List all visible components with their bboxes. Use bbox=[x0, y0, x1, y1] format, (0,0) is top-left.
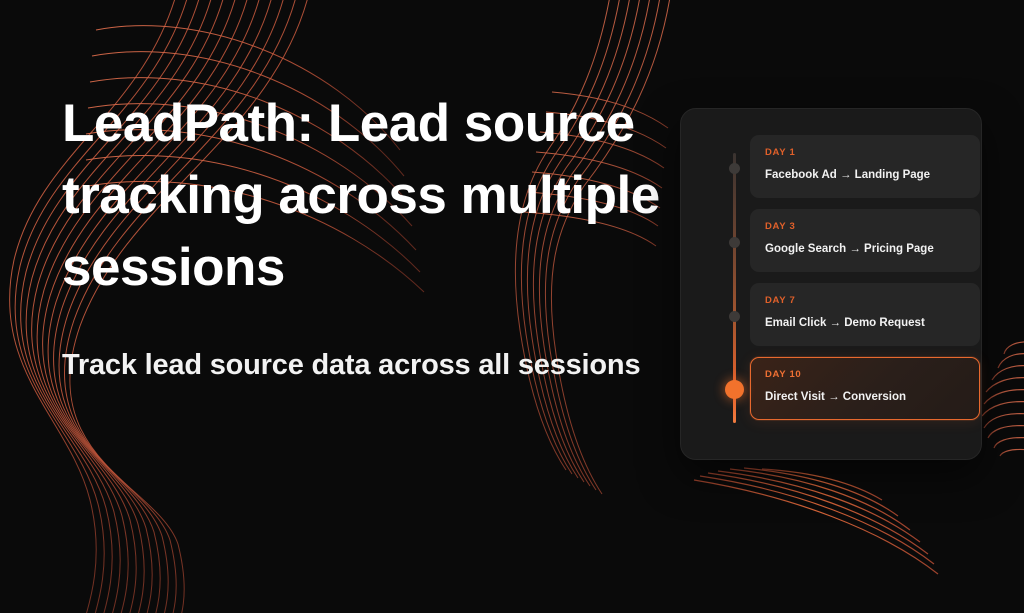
timeline-step-list: DAY 1 Facebook Ad → Landing Page DAY 3 G… bbox=[705, 135, 959, 420]
day-label: DAY 7 bbox=[765, 295, 965, 307]
page-title: LeadPath: Lead source tracking across mu… bbox=[62, 88, 672, 304]
promo-graphic: LeadPath: Lead source tracking across mu… bbox=[0, 0, 1024, 613]
timeline-card-text: Facebook Ad → Landing Page bbox=[765, 168, 965, 183]
page-subtitle: Track lead source data across all sessio… bbox=[62, 342, 672, 389]
day-label: DAY 1 bbox=[765, 147, 965, 159]
timeline-card-active[interactable]: DAY 10 Direct Visit → Conversion bbox=[750, 357, 980, 420]
timeline-card[interactable]: DAY 7 Email Click → Demo Request bbox=[750, 283, 980, 346]
day-label: DAY 3 bbox=[765, 221, 965, 233]
timeline-card-text: Email Click → Demo Request bbox=[765, 316, 965, 331]
lead-journey-timeline: DAY 1 Facebook Ad → Landing Page DAY 3 G… bbox=[705, 135, 959, 435]
timeline-dot-icon bbox=[729, 237, 740, 248]
timeline-step-active[interactable]: DAY 10 Direct Visit → Conversion bbox=[705, 357, 959, 420]
hero-text-block: LeadPath: Lead source tracking across mu… bbox=[62, 88, 672, 389]
timeline-step[interactable]: DAY 1 Facebook Ad → Landing Page bbox=[705, 135, 959, 198]
timeline-dot-icon bbox=[729, 163, 740, 174]
timeline-step[interactable]: DAY 7 Email Click → Demo Request bbox=[705, 283, 959, 346]
timeline-step[interactable]: DAY 3 Google Search → Pricing Page bbox=[705, 209, 959, 272]
timeline-card[interactable]: DAY 1 Facebook Ad → Landing Page bbox=[750, 135, 980, 198]
timeline-card-text: Direct Visit → Conversion bbox=[765, 390, 965, 405]
day-label: DAY 10 bbox=[765, 369, 965, 381]
timeline-panel: DAY 1 Facebook Ad → Landing Page DAY 3 G… bbox=[680, 108, 982, 460]
timeline-card[interactable]: DAY 3 Google Search → Pricing Page bbox=[750, 209, 980, 272]
timeline-dot-active-icon bbox=[725, 380, 744, 399]
timeline-dot-icon bbox=[729, 311, 740, 322]
timeline-card-text: Google Search → Pricing Page bbox=[765, 242, 965, 257]
